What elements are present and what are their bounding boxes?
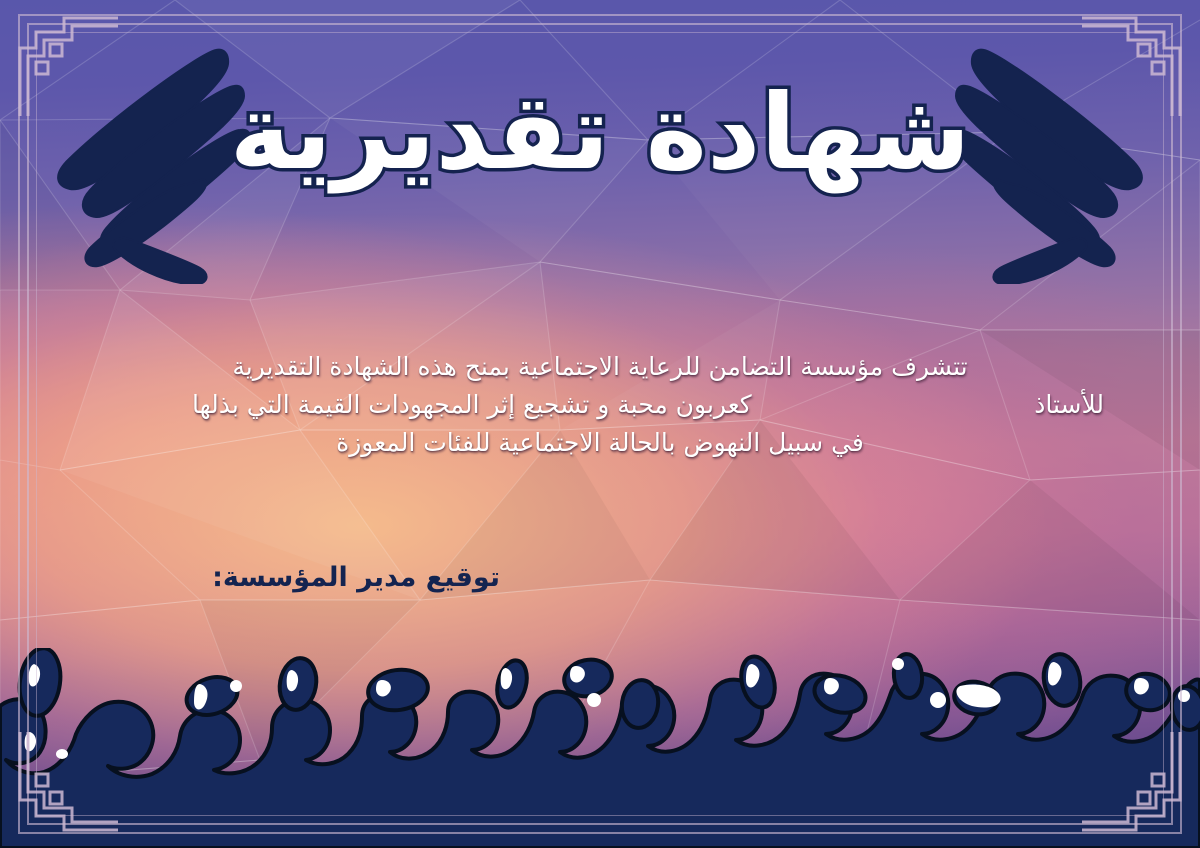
certificate-body: تتشرف مؤسسة التضامن للرعاية الاجتماعية ب… (96, 348, 1104, 462)
body-line-3: في سبيل النهوض بالحالة الاجتماعية للفئات… (96, 424, 1104, 462)
signature-label: توقيع مدير المؤسسة: (212, 562, 500, 593)
body-line-2: للأستاذ كعربون محبة و تشجيع إثر المجهودا… (96, 386, 1104, 424)
recipient-title-label: للأستاذ (1034, 386, 1104, 424)
certificate-title: شهادة تقديرية (230, 78, 971, 187)
certificate-title-area: شهادة تقديرية (0, 78, 1200, 187)
body-line-1: تتشرف مؤسسة التضامن للرعاية الاجتماعية ب… (96, 348, 1104, 386)
certificate-canvas: شهادة تقديرية تتشرف مؤسسة التضامن للرعاي… (0, 0, 1200, 848)
body-line-2-text: كعربون محبة و تشجيع إثر المجهودات القيمة… (192, 386, 752, 424)
